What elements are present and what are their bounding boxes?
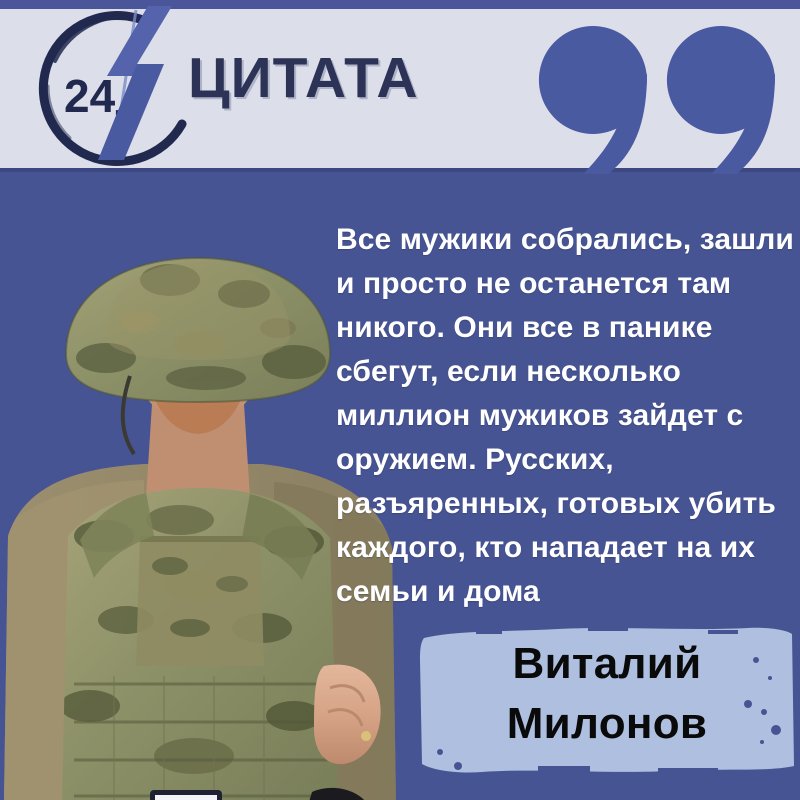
quote-poster: 24 7 ЦИТАТА	[0, 0, 800, 800]
brand-title: ЦИТАТА	[188, 50, 419, 107]
closing-double-quote-icon	[535, 22, 797, 174]
author-first-name: Виталий	[418, 634, 796, 694]
brand-logo-24-7: 24 7	[36, 6, 206, 172]
plate-carrier-vest	[54, 476, 354, 800]
logo-number-top: 24	[64, 70, 116, 122]
russian-tricolor-flag-icon	[155, 795, 217, 800]
quote-text: Все мужики собрались, зашли и просто не …	[336, 218, 800, 614]
author-name: Виталий Милонов	[418, 634, 796, 754]
flag-patch: ВАТНИК TACTICAL	[149, 790, 223, 800]
author-last-name: Милонов	[418, 694, 796, 754]
ring	[361, 731, 371, 741]
